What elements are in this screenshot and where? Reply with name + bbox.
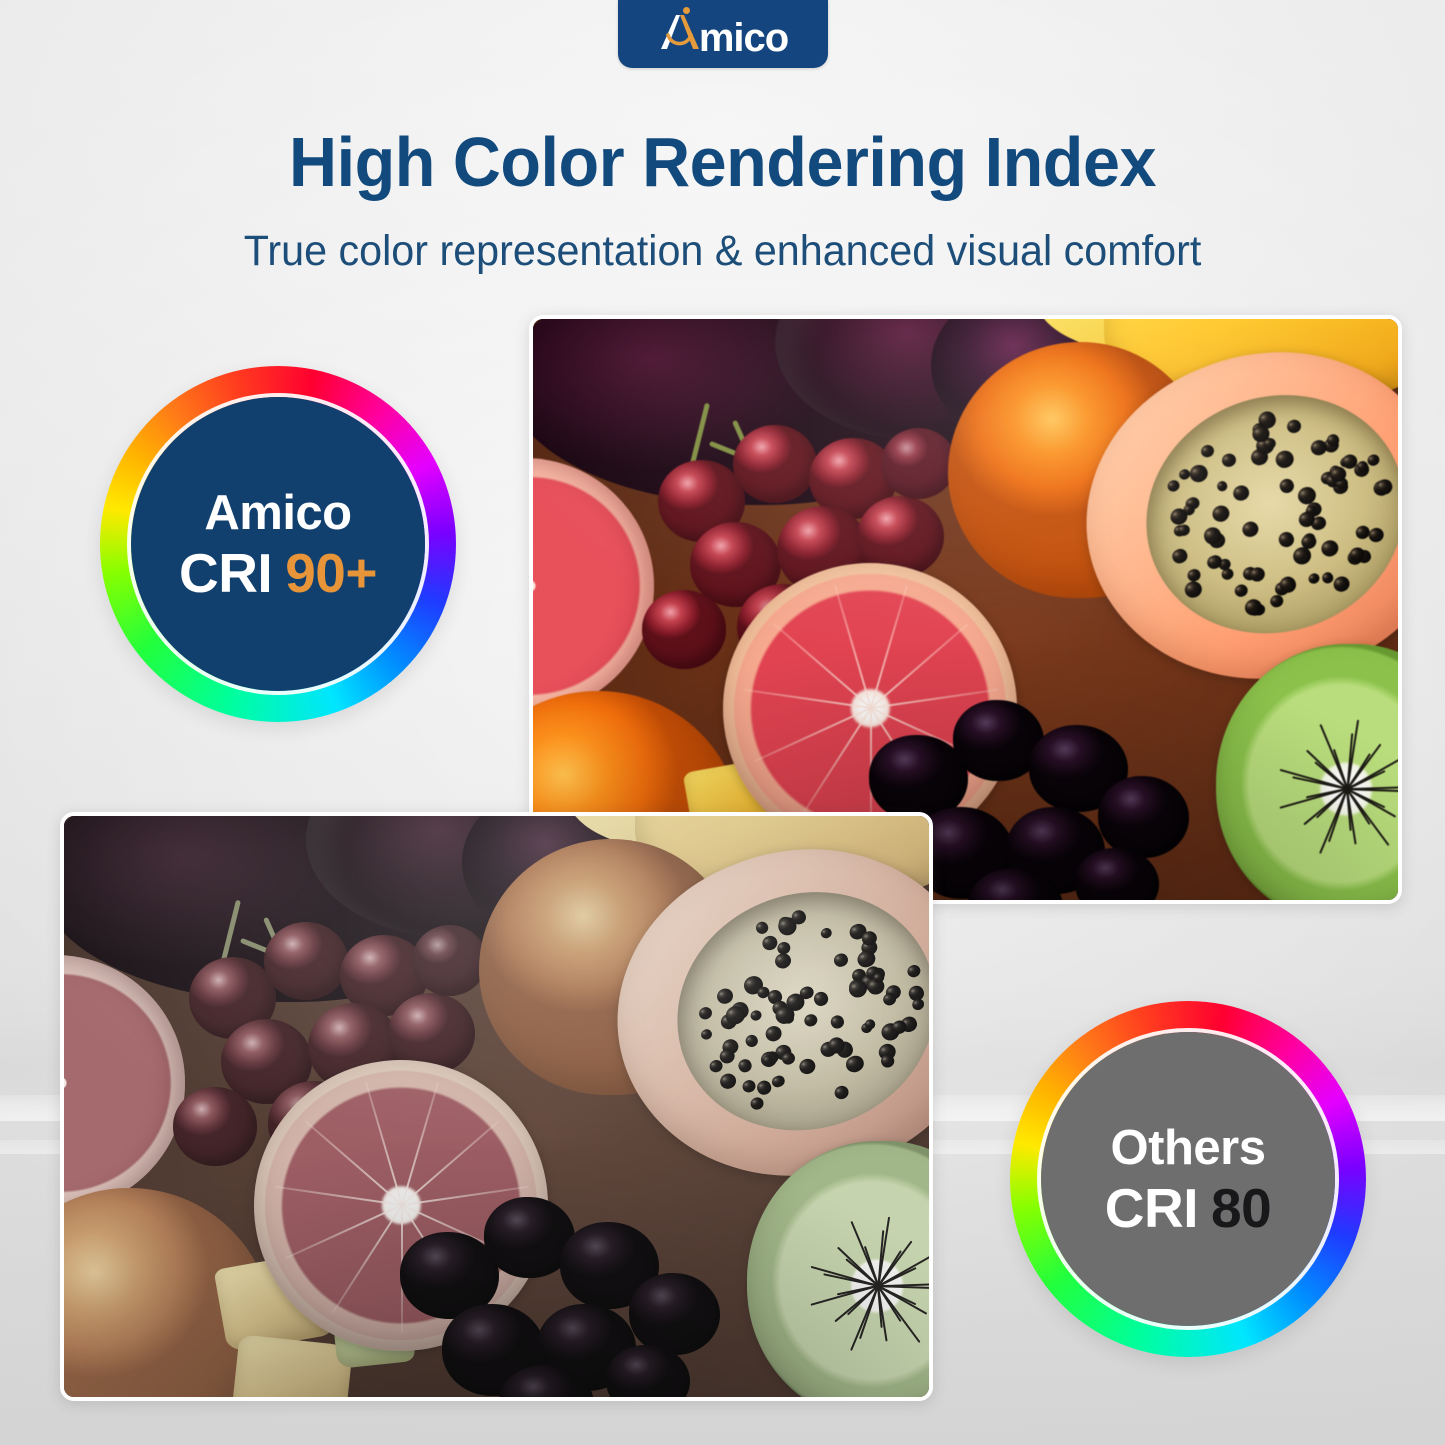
- papaya-seed: [754, 1079, 773, 1097]
- papaya-seed: [743, 1033, 759, 1049]
- papaya-seed: [1220, 452, 1237, 469]
- papaya-seed: [749, 1009, 763, 1023]
- papaya-seed: [829, 1014, 846, 1031]
- logo-i-dot-icon: [683, 7, 690, 14]
- badge-amico-line1: Amico: [204, 486, 351, 540]
- grape: [264, 922, 348, 1000]
- papaya-seed: [1268, 593, 1284, 609]
- papaya-seed: [802, 1012, 819, 1029]
- amico-a-logomark: [658, 11, 700, 51]
- logo-wordmark: mico: [658, 11, 788, 58]
- papaya-seed: [1331, 574, 1351, 594]
- papaya-seed: [797, 1057, 818, 1077]
- logo-text: mico: [699, 18, 788, 58]
- amico-logo[interactable]: mico: [618, 0, 828, 68]
- fruit-scene-dull: [64, 816, 929, 1397]
- papaya-seed: [1199, 443, 1215, 459]
- grape: [733, 425, 817, 503]
- papaya-seed: [1230, 483, 1251, 503]
- papaya-seed: [699, 1027, 713, 1041]
- kiwi-half: [747, 1141, 933, 1401]
- badge-amico-line2: CRI 90+: [179, 544, 377, 602]
- papaya-seed-cavity: [641, 853, 933, 1168]
- papaya-seed: [1166, 479, 1181, 493]
- blackberry: [1098, 776, 1189, 858]
- papaya-seed: [819, 926, 833, 940]
- blackberry-cluster: [393, 1176, 774, 1401]
- badge-amico-cri-value: 90+: [285, 544, 377, 602]
- papaya-seed: [770, 1074, 786, 1089]
- grape: [642, 590, 726, 668]
- papaya-seed: [741, 1078, 758, 1094]
- badge-others-inner: Others CRI 80: [1041, 1032, 1335, 1326]
- papaya-seed: [832, 952, 849, 969]
- badge-amico-inner: Amico CRI 90+: [131, 397, 425, 691]
- papaya-seed: [1232, 583, 1249, 599]
- papaya-seed: [754, 920, 769, 935]
- papaya-seed: [1182, 579, 1203, 600]
- badge-amico-cri: Amico CRI 90+: [100, 366, 456, 722]
- grape: [412, 925, 488, 997]
- grape: [881, 428, 957, 500]
- papaya-seed: [1215, 479, 1229, 492]
- badge-others-cri: Others CRI 80: [1010, 1001, 1366, 1357]
- papaya-seed: [1366, 525, 1386, 544]
- papaya-seed: [1284, 418, 1302, 435]
- page-subtitle: True color representation & enhanced vis…: [29, 225, 1416, 277]
- kiwi-half: [1216, 644, 1402, 904]
- papaya-seed: [1177, 467, 1190, 480]
- blackberry: [629, 1273, 720, 1355]
- papaya-seed: [1277, 530, 1296, 549]
- badge-others-cri-value: 80: [1211, 1179, 1271, 1237]
- grape: [173, 1087, 257, 1165]
- papaya-seed: [1170, 547, 1188, 565]
- badge-others-line2: CRI 80: [1105, 1179, 1271, 1237]
- papaya-seed: [762, 1024, 783, 1044]
- papaya-seed: [696, 1005, 712, 1021]
- papaya-seed: [1209, 503, 1231, 524]
- page-title: High Color Rendering Index: [36, 124, 1409, 200]
- papaya-seed: [736, 1057, 753, 1074]
- badge-others-line1: Others: [1111, 1121, 1266, 1175]
- badge-amico-cri-label: CRI: [179, 544, 272, 602]
- papaya-seed: [1306, 572, 1320, 586]
- low-cri-fruit-photo: [60, 812, 933, 1401]
- papaya-seed: [1277, 477, 1295, 495]
- papaya-seed: [749, 1096, 765, 1112]
- badge-others-cri-label: CRI: [1105, 1179, 1198, 1237]
- papaya-seed: [1186, 568, 1202, 584]
- papaya-seed-cavity: [1110, 356, 1402, 671]
- papaya-seed: [1273, 448, 1296, 470]
- papaya-seed: [1240, 519, 1260, 539]
- papaya-seed: [714, 986, 734, 1006]
- papaya-seed: [717, 1071, 738, 1091]
- papaya-seed: [832, 1083, 850, 1101]
- papaya-seed: [905, 963, 921, 979]
- papaya-seed: [1318, 538, 1340, 559]
